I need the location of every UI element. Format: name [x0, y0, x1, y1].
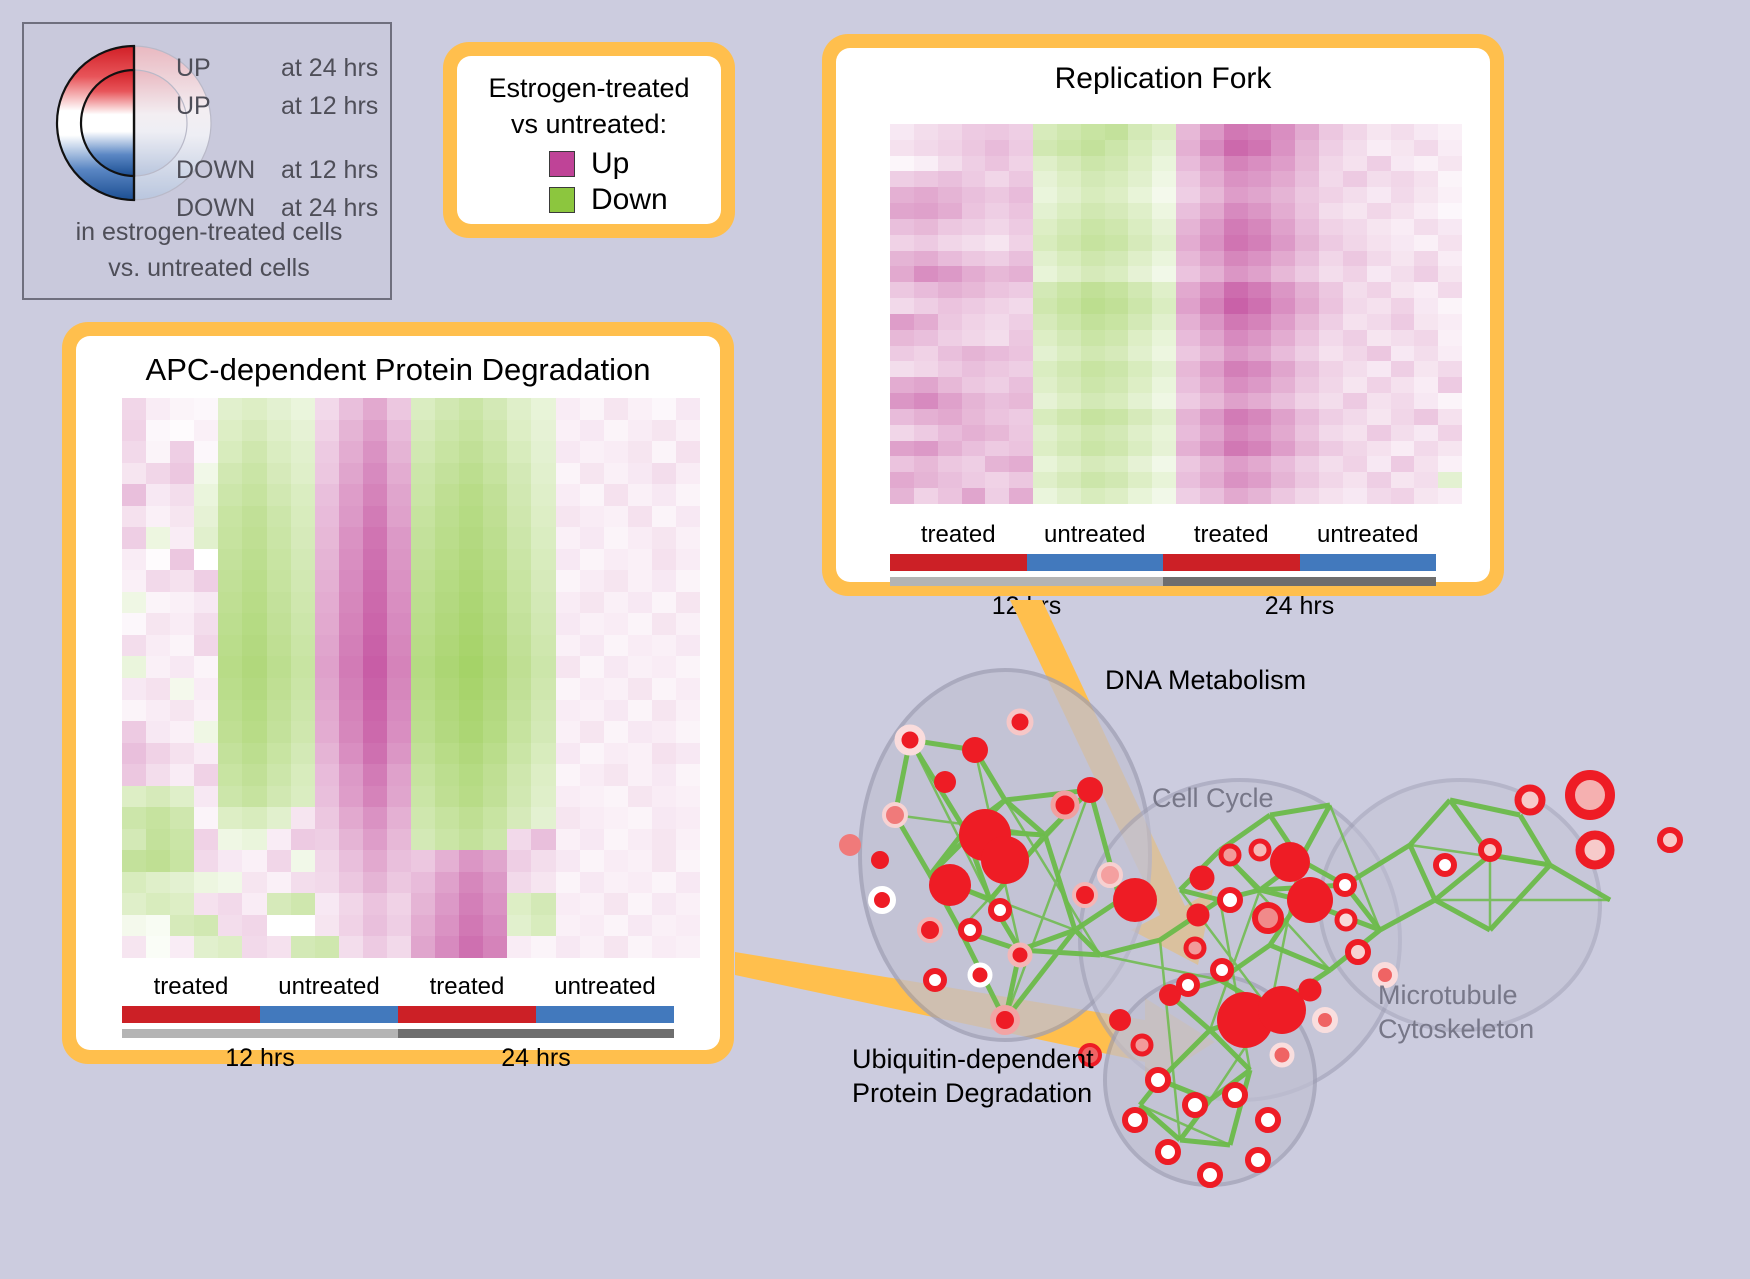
- rf-cond-2: untreated: [1027, 518, 1164, 552]
- key-time-down-12: at 12 hrs: [281, 156, 378, 185]
- color-key-box: UP at 24 hrs UP at 12 hrs DOWN at 12 hrs…: [22, 22, 392, 300]
- key-state-up-24: UP: [176, 54, 281, 83]
- apc-time-bar-12: [122, 1029, 398, 1038]
- apc-axis: treated untreated treated untreated 12 h: [76, 970, 720, 1078]
- apc-bar-treated-24: [398, 1006, 536, 1023]
- key-state-down-12: DOWN: [176, 156, 281, 185]
- rf-cond-3: treated: [1163, 518, 1300, 552]
- rf-time-bar: [890, 577, 1436, 586]
- replication-fork-title: Replication Fork: [836, 48, 1490, 96]
- rf-time-bar-12: [890, 577, 1163, 586]
- up-swatch-icon: [549, 151, 575, 177]
- legend-panel: Estrogen-treated vs untreated: Up Down: [443, 42, 735, 238]
- pathway-network-diagram: [790, 600, 1750, 1279]
- color-key-footer-line2: vs. untreated cells: [24, 250, 394, 286]
- rf-bar-treated-12: [890, 554, 1027, 571]
- apc-time-bar: [122, 1029, 674, 1038]
- legend-title-line2: vs untreated:: [457, 106, 721, 142]
- legend-item-up: Up: [549, 146, 721, 182]
- color-key-labels: UP at 24 hrs UP at 12 hrs DOWN at 12 hrs…: [176, 54, 391, 232]
- rf-condition-labels: treated untreated treated untreated: [890, 518, 1436, 552]
- legend-label-up: Up: [591, 147, 629, 181]
- key-row-up-12: UP at 12 hrs: [176, 92, 391, 130]
- legend-title-line1: Estrogen-treated: [457, 70, 721, 106]
- apc-cond-2: untreated: [260, 970, 398, 1004]
- apc-bar-treated-12: [122, 1006, 260, 1023]
- rf-cond-1: treated: [890, 518, 1027, 552]
- color-key-footer-line1: in estrogen-treated cells: [24, 214, 394, 250]
- cluster-label-microtubule-cytoskeleton: Microtubule Cytoskeleton: [1378, 978, 1534, 1046]
- rf-time-bar-24: [1163, 577, 1436, 586]
- apc-bar-untreated-12: [260, 1006, 398, 1023]
- figure-canvas: UP at 24 hrs UP at 12 hrs DOWN at 12 hrs…: [0, 0, 1750, 1279]
- cluster-label-ubiquitin-degradation: Ubiquitin-dependent Protein Degradation: [852, 1042, 1094, 1110]
- apc-bar-untreated-24: [536, 1006, 674, 1023]
- cluster-label-dna-metabolism: DNA Metabolism: [1105, 665, 1306, 696]
- apc-cond-4: untreated: [536, 970, 674, 1004]
- rf-bar-treated-24: [1163, 554, 1300, 571]
- apc-condition-bar: [122, 1006, 674, 1023]
- apc-time-12: 12 hrs: [122, 1038, 398, 1078]
- replication-fork-panel: Replication Fork treated untreated treat…: [822, 34, 1504, 596]
- rf-condition-bar: [890, 554, 1436, 571]
- apc-heatmap: [122, 398, 700, 958]
- apc-cond-1: treated: [122, 970, 260, 1004]
- legend-items: Up Down: [457, 146, 721, 218]
- apc-degradation-panel: APC-dependent Protein Degradation treate…: [62, 322, 734, 1064]
- legend-item-down: Down: [549, 182, 721, 218]
- key-row-down-12: DOWN at 12 hrs: [176, 156, 391, 194]
- cluster-label-cell-cycle: Cell Cycle: [1152, 783, 1274, 814]
- replication-fork-heatmap: [890, 124, 1462, 504]
- key-row-up-24: UP at 24 hrs: [176, 54, 391, 92]
- key-state-up-12: UP: [176, 92, 281, 121]
- key-time-up-12: at 12 hrs: [281, 92, 378, 121]
- rf-bar-untreated-24: [1300, 554, 1437, 571]
- legend-label-down: Down: [591, 183, 668, 217]
- color-key-footer: in estrogen-treated cells vs. untreated …: [24, 214, 394, 286]
- down-swatch-icon: [549, 187, 575, 213]
- apc-time-labels: 12 hrs 24 hrs: [122, 1038, 674, 1078]
- rf-bar-untreated-12: [1027, 554, 1164, 571]
- apc-time-bar-24: [398, 1029, 674, 1038]
- apc-title: APC-dependent Protein Degradation: [76, 336, 720, 388]
- key-time-up-24: at 24 hrs: [281, 54, 378, 83]
- apc-cond-3: treated: [398, 970, 536, 1004]
- apc-condition-labels: treated untreated treated untreated: [122, 970, 674, 1004]
- apc-time-24: 24 hrs: [398, 1038, 674, 1078]
- rf-cond-4: untreated: [1300, 518, 1437, 552]
